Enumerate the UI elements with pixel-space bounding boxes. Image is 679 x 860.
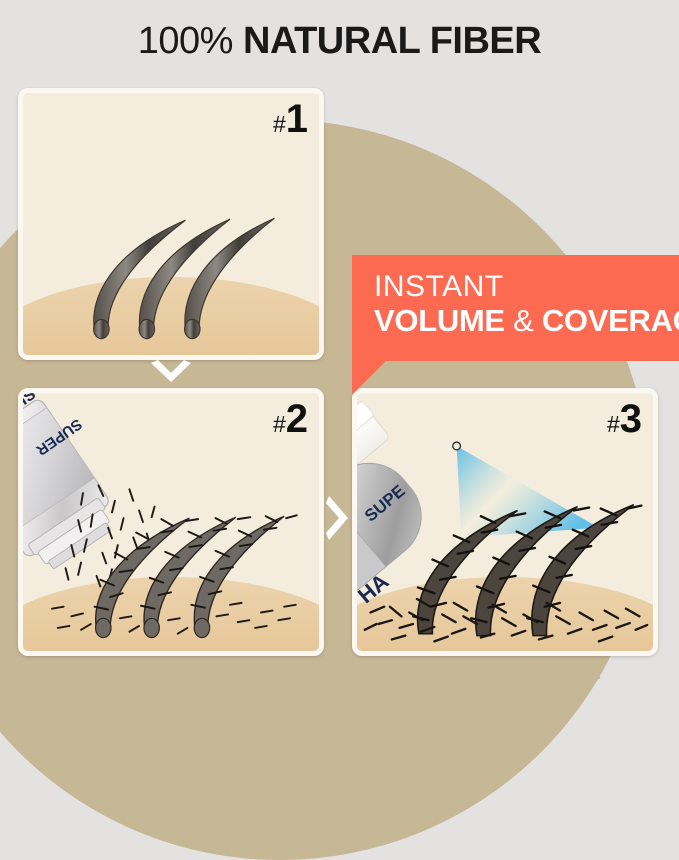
banner-line-volume-coverage: VOLUME & COVERAGE	[374, 303, 679, 339]
banner-ampersand: &	[513, 303, 533, 338]
step-digit: 2	[286, 397, 307, 441]
step-digit: 1	[286, 97, 307, 141]
title-main: NATURAL FIBER	[243, 20, 541, 62]
step-panel-1: #1	[18, 88, 324, 360]
banner-line-instant: INSTANT	[374, 271, 679, 303]
step-panel-2: SUPER MILL SUPER #2	[18, 388, 324, 656]
promo-banner: INSTANT VOLUME & COVERAGE	[352, 255, 679, 361]
panel-number-2: #2	[273, 399, 307, 439]
step-panel-3: SUPE HA #3	[352, 388, 658, 656]
hash-symbol: #	[607, 411, 620, 437]
hash-symbol: #	[273, 411, 286, 437]
title-percent: 100%	[138, 20, 233, 62]
chevron-right-icon	[324, 492, 354, 544]
hash-symbol: #	[273, 111, 286, 137]
panel-number-1: #1	[273, 99, 307, 139]
page-title: 100% NATURAL FIBER	[0, 20, 679, 63]
panel-number-3: #3	[607, 399, 641, 439]
chevron-down-icon	[147, 358, 195, 388]
banner-volume-text: VOLUME	[374, 303, 513, 338]
step-digit: 3	[620, 397, 641, 441]
banner-coverage-text: COVERAGE	[534, 303, 679, 338]
